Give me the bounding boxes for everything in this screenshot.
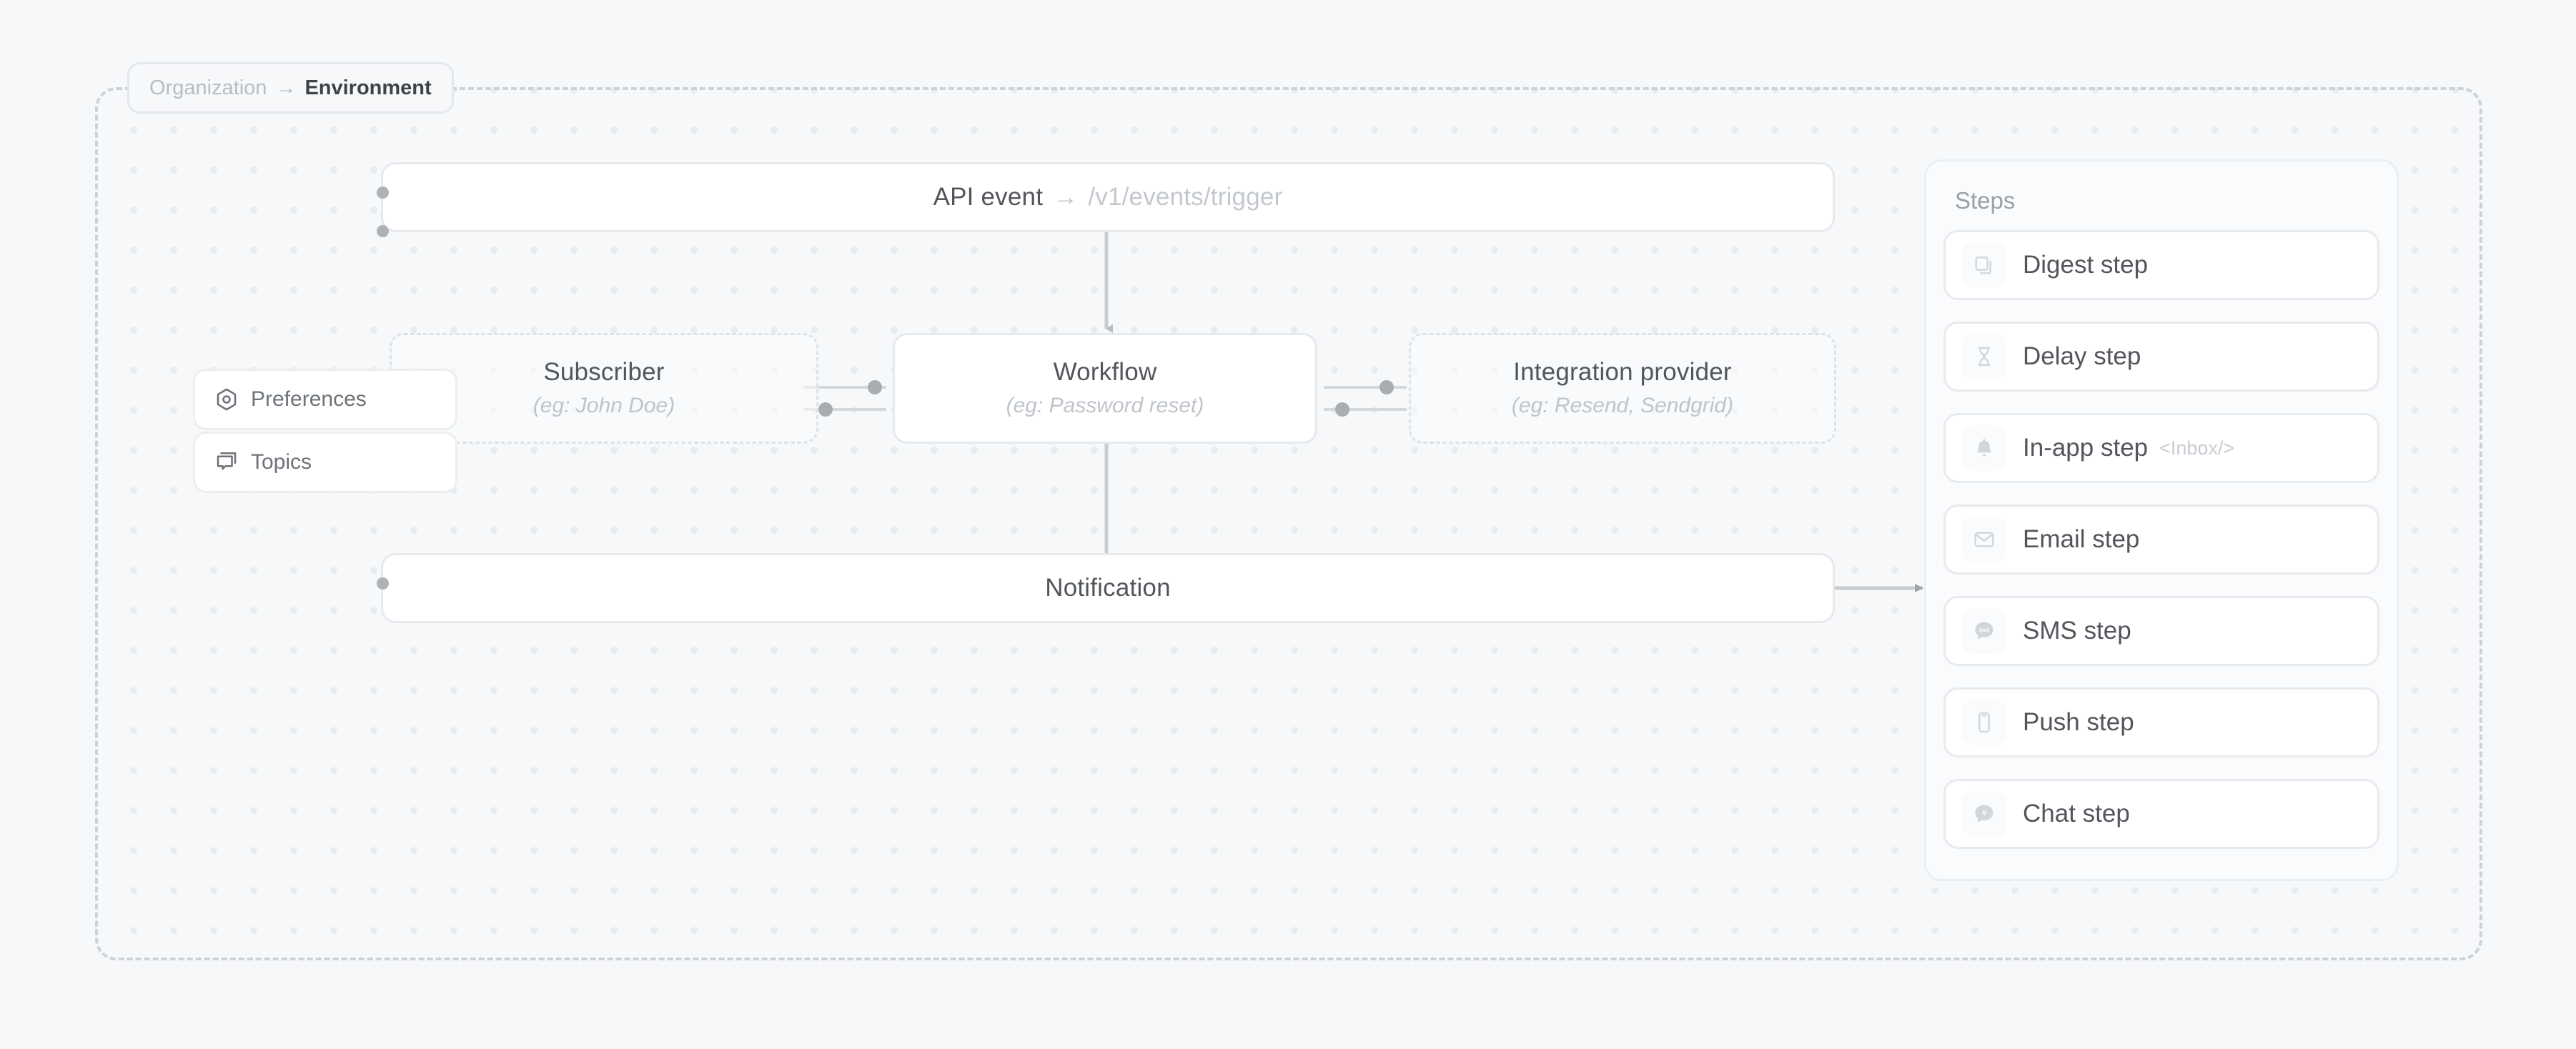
- node-notification[interactable]: Notification: [381, 553, 1835, 623]
- node-api-event-title: API event→/v1/events/trigger: [933, 183, 1283, 212]
- sms-bubble-icon: SMS: [1961, 608, 2007, 654]
- step-item-email-label: Email step: [2023, 525, 2139, 554]
- steps-panel-title: Steps: [1955, 187, 2379, 214]
- node-workflow[interactable]: Workflow (eg: Password reset): [893, 333, 1317, 444]
- chat-hash-bubble-icon: #: [1961, 791, 2007, 837]
- preferences-hexagon-icon: [214, 387, 239, 412]
- step-item-email[interactable]: Email step: [1943, 504, 2379, 575]
- step-item-push[interactable]: Push step: [1943, 687, 2379, 757]
- breadcrumb-arrow-icon: →: [275, 76, 296, 100]
- step-item-inapp-label: In-app step: [2023, 434, 2148, 462]
- svg-text:SMS: SMS: [1979, 628, 1990, 633]
- topics-bubbles-icon: [214, 449, 239, 475]
- digest-layers-icon: [1961, 242, 2007, 288]
- port-notif-left: [377, 577, 389, 590]
- node-api-event[interactable]: API event→/v1/events/trigger: [381, 162, 1835, 232]
- chip-topics-label: Topics: [251, 450, 312, 474]
- svg-text:#: #: [1982, 809, 1987, 817]
- delay-hourglass-icon: [1961, 334, 2007, 379]
- port-api-left: [377, 187, 389, 199]
- step-item-chat[interactable]: # Chat step: [1943, 779, 2379, 849]
- node-integration-provider-title: Integration provider: [1513, 358, 1732, 387]
- step-item-sms[interactable]: SMS SMS step: [1943, 596, 2379, 666]
- breadcrumb-organization[interactable]: Organization: [149, 76, 267, 100]
- step-item-inapp[interactable]: In-app step <Inbox/>: [1943, 413, 2379, 483]
- chip-preferences-label: Preferences: [251, 387, 367, 412]
- subscriber-chip-stack: Preferences Topics: [193, 369, 457, 493]
- breadcrumb[interactable]: Organization → Environment: [127, 62, 454, 114]
- inapp-bell-icon: [1961, 425, 2007, 471]
- chip-topics[interactable]: Topics: [193, 432, 457, 493]
- node-integration-provider[interactable]: Integration provider (eg: Resend, Sendgr…: [1409, 333, 1836, 444]
- api-event-label: API event: [933, 183, 1044, 211]
- node-subscriber-example: (eg: John Doe): [533, 394, 675, 419]
- step-item-push-label: Push step: [2023, 708, 2134, 737]
- step-item-digest[interactable]: Digest step: [1943, 230, 2379, 300]
- push-phone-icon: [1961, 700, 2007, 745]
- email-envelope-icon: [1961, 517, 2007, 562]
- api-event-arrow-icon: →: [1053, 183, 1078, 211]
- step-item-inapp-tag: <Inbox/>: [2159, 437, 2234, 459]
- step-item-delay[interactable]: Delay step: [1943, 322, 2379, 392]
- breadcrumb-environment[interactable]: Environment: [304, 76, 431, 100]
- node-notification-title: Notification: [1045, 574, 1171, 602]
- api-event-endpoint: /v1/events/trigger: [1088, 183, 1282, 211]
- step-item-digest-label: Digest step: [2023, 251, 2148, 279]
- node-integration-provider-example: (eg: Resend, Sendgrid): [1512, 394, 1733, 419]
- node-subscriber-title: Subscriber: [543, 358, 664, 387]
- node-workflow-example: (eg: Password reset): [1006, 394, 1204, 419]
- chip-preferences[interactable]: Preferences: [193, 369, 457, 430]
- diagram-canvas: Organization → Environment: [0, 0, 2576, 1049]
- step-item-sms-label: SMS step: [2023, 617, 2131, 645]
- steps-panel: Steps Digest step Delay step: [1924, 159, 2399, 881]
- port-api-left2: [377, 225, 389, 237]
- step-item-chat-label: Chat step: [2023, 800, 2130, 828]
- step-item-delay-label: Delay step: [2023, 342, 2141, 371]
- node-workflow-title: Workflow: [1054, 358, 1157, 387]
